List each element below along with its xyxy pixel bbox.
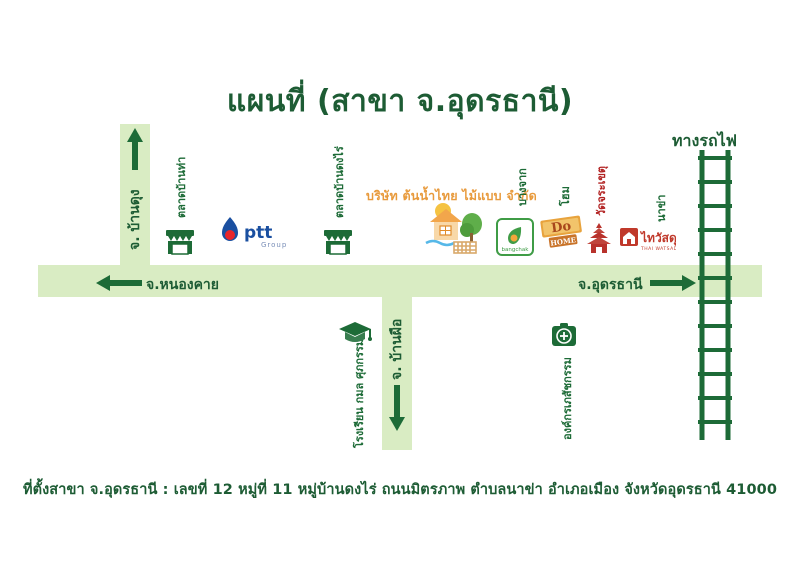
arrow-up-icon bbox=[127, 128, 143, 170]
footer-address: ที่ตั้งสาขา จ.อุดรธานี : เลขที่ 12 หมู่ท… bbox=[0, 478, 800, 501]
poi-label-school: โรงเรียน กมล ศุภกรรม bbox=[350, 339, 368, 448]
railway-track-icon bbox=[694, 150, 736, 440]
poi-label-market-ban-tha: ตลาดบ้านท่า bbox=[172, 157, 190, 218]
arrow-right-icon bbox=[650, 275, 696, 291]
ptt-wordmark: ptt bbox=[244, 223, 272, 243]
page-title: แผนที่ (สาขา จ.อุดรธานี) bbox=[0, 82, 800, 122]
road-label-udonthani: จ.อุดรธานี bbox=[578, 274, 643, 296]
thaiwatsadu-logo-icon: ไทวัสดุ THAI WATSADU bbox=[620, 226, 676, 252]
poi-label-temple: วัดจระเขตุ bbox=[592, 166, 610, 216]
bangchak-wordmark: bangchak bbox=[502, 247, 530, 253]
poi-label-dohome: โฮม bbox=[556, 186, 574, 206]
road-label-banphue: จ. บ้านผือ bbox=[386, 319, 408, 380]
ptt-logo-icon: ptt Group bbox=[216, 214, 290, 254]
arrow-down-icon bbox=[389, 385, 405, 431]
road-label-bandung: จ. บ้านดุง bbox=[124, 189, 146, 250]
medical-cross-icon bbox=[551, 322, 577, 348]
market-stall-icon bbox=[163, 222, 197, 256]
bangchak-logo-icon: bangchak bbox=[496, 218, 534, 256]
arrow-left-icon bbox=[96, 275, 142, 291]
road-label-nongkhai: จ.หนองคาย bbox=[146, 274, 219, 296]
poi-label-naka: นาข่า bbox=[652, 195, 670, 222]
dohome-wordmark-home: HOME bbox=[550, 235, 577, 248]
poi-label-pharmaceutical-org: องค์กรเภสัชกรรม bbox=[558, 357, 576, 440]
house-tree-icon bbox=[424, 200, 488, 256]
dohome-wordmark-do: Do bbox=[550, 219, 572, 237]
poi-label-bangchak: บางจาก bbox=[513, 168, 531, 206]
market-stall-icon-2 bbox=[321, 222, 355, 256]
thaiwatsadu-subtext: THAI WATSADU bbox=[640, 246, 676, 252]
graduation-cap-icon bbox=[338, 320, 372, 346]
thaiwatsadu-wordmark: ไทวัสดุ bbox=[639, 230, 676, 246]
map-container: แผนที่ (สาขา จ.อุดรธานี) จ.หนองคาย จ.อุด… bbox=[0, 0, 800, 566]
poi-label-market-ban-dong-rai: ตลาดบ้านดงไร่ bbox=[330, 146, 348, 218]
temple-icon bbox=[584, 222, 614, 254]
dohome-logo-icon: Do HOME bbox=[540, 212, 584, 254]
svg-text:Group: Group bbox=[261, 241, 287, 249]
